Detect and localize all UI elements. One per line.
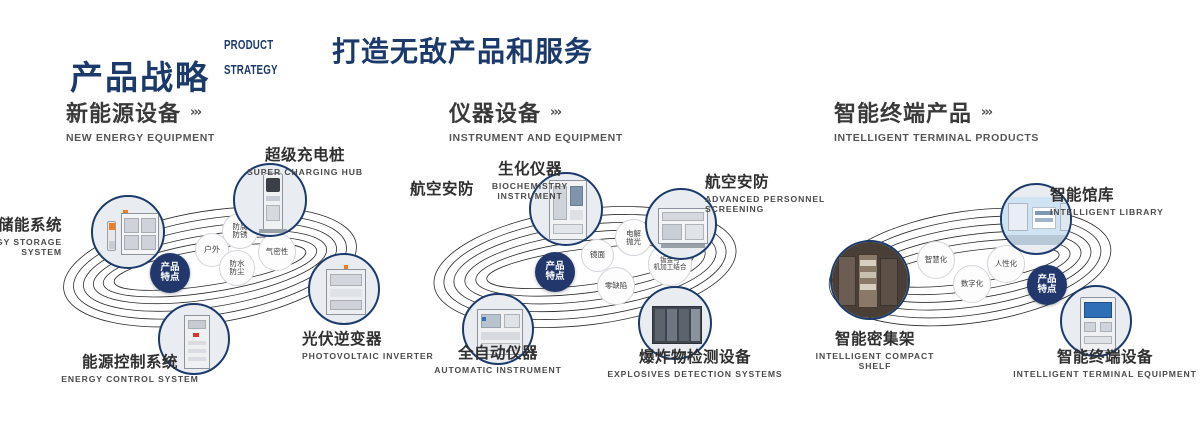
feature-bubble-waterproof: 防水 防尘	[219, 250, 255, 286]
diagram-panel-instrument: 产品 特点 镜面 电解 抛光 零缺陷 钣金与 机加工结合	[400, 145, 820, 410]
section-title-cn: 仪器设备	[449, 96, 541, 128]
page-title-en: PRODUCT STRATEGY	[224, 26, 278, 94]
battery-cabinet-icon	[93, 197, 163, 267]
label-super-charging-hub: 超级充电桩 SUPER CHARGING HUB	[240, 143, 370, 177]
section-title-en: NEW ENERGY EQUIPMENT	[66, 132, 215, 144]
core-line-2: 特点	[160, 273, 179, 283]
label-energy-storage-system: 储能系统 ENERGY STORAGE SYSTEM	[0, 213, 62, 257]
page-title-en-line2: STRATEGY	[224, 64, 278, 77]
label-terminal-kiosk: 智能终端设备 INTELLIGENT TERMINAL EQUIPMENT	[1010, 345, 1200, 379]
chevron-right-icon: ›››	[981, 106, 991, 119]
label-explosives-detection: 爆炸物检测设备 EXPLOSIVES DETECTION SYSTEMS	[600, 345, 790, 379]
diagram-panel-terminal: 智慧化 数字化 人性化 产品 特点 智	[795, 145, 1200, 410]
section-heading-instrument: 仪器设备 ››› INSTRUMENT AND EQUIPMENT	[449, 96, 623, 144]
compact-shelf-icon	[832, 242, 908, 318]
feature-bubble-airtightness: 气密性	[258, 233, 296, 271]
core-bubble-product-features: 产品 特点	[535, 252, 575, 292]
label-energy-control-system: 能源控制系统 ENERGY CONTROL SYSTEM	[30, 350, 230, 384]
label-smart-library: 智能馆库 INTELLIGENT LIBRARY	[1050, 183, 1200, 217]
feature-bubble-digital: 数字化	[953, 265, 991, 303]
page-title-en-line1: PRODUCT	[224, 39, 278, 52]
label-compact-shelf: 智能密集架 INTELLIGENT COMPACT SHELF	[800, 327, 950, 371]
section-title-en: INTELLIGENT TERMINAL PRODUCTS	[834, 132, 1039, 144]
node-energy-storage-system[interactable]	[91, 195, 165, 269]
section-heading-terminal: 智能终端产品 ››› INTELLIGENT TERMINAL PRODUCTS	[834, 96, 1039, 144]
poster-canvas: 产品战略 PRODUCT STRATEGY 打造无敌产品和服务 新能源设备 ››…	[0, 0, 1200, 422]
diagram-panel-new-energy: 产品 特点 户外 防腐 防锈 防水 防尘 气密性	[0, 145, 430, 410]
feature-bubble-zero-defect: 零缺陷	[597, 267, 635, 305]
label-automatic-instrument: 全自动仪器 AUTOMATIC INSTRUMENT	[418, 341, 578, 375]
page-title: 产品战略	[70, 61, 210, 94]
chevron-right-icon: ›››	[550, 106, 560, 119]
chevron-right-icon: ›››	[190, 106, 200, 119]
section-title-en: INSTRUMENT AND EQUIPMENT	[449, 132, 623, 144]
node-compact-shelf[interactable]	[830, 240, 910, 320]
page-subtitle: 打造无敌产品和服务	[332, 30, 593, 70]
core-bubble-product-features: 产品 特点	[1027, 265, 1067, 305]
section-title-cn: 新能源设备	[66, 96, 181, 128]
node-photovoltaic-inverter[interactable]	[308, 253, 380, 325]
feature-bubble-intelligent: 智慧化	[917, 241, 955, 279]
core-line-2: 特点	[545, 272, 564, 282]
section-title-cn: 智能终端产品	[834, 96, 972, 128]
section-heading-new-energy: 新能源设备 ››› NEW ENERGY EQUIPMENT	[66, 96, 215, 144]
core-line-2: 特点	[1037, 285, 1056, 295]
poster-header: 产品战略 PRODUCT STRATEGY	[70, 26, 293, 94]
label-aviation-security-left: 航空安防	[410, 177, 520, 199]
inverter-cabinet-icon	[310, 255, 378, 323]
